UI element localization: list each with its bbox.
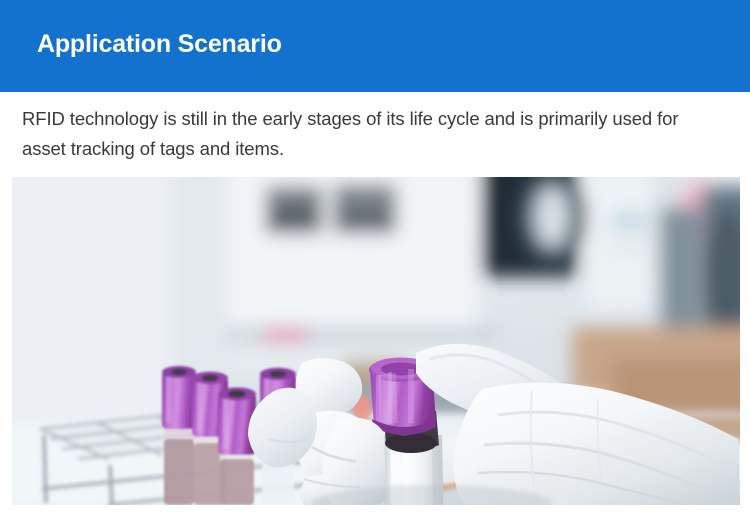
lab-photo-illustration (12, 177, 740, 505)
header-band: Application Scenario (0, 0, 750, 92)
application-scenario-card: Application Scenario RFID technology is … (0, 0, 750, 513)
description-text: RFID technology is still in the early st… (22, 104, 702, 164)
page-title: Application Scenario (37, 27, 282, 61)
application-scenario-photo (12, 177, 740, 505)
